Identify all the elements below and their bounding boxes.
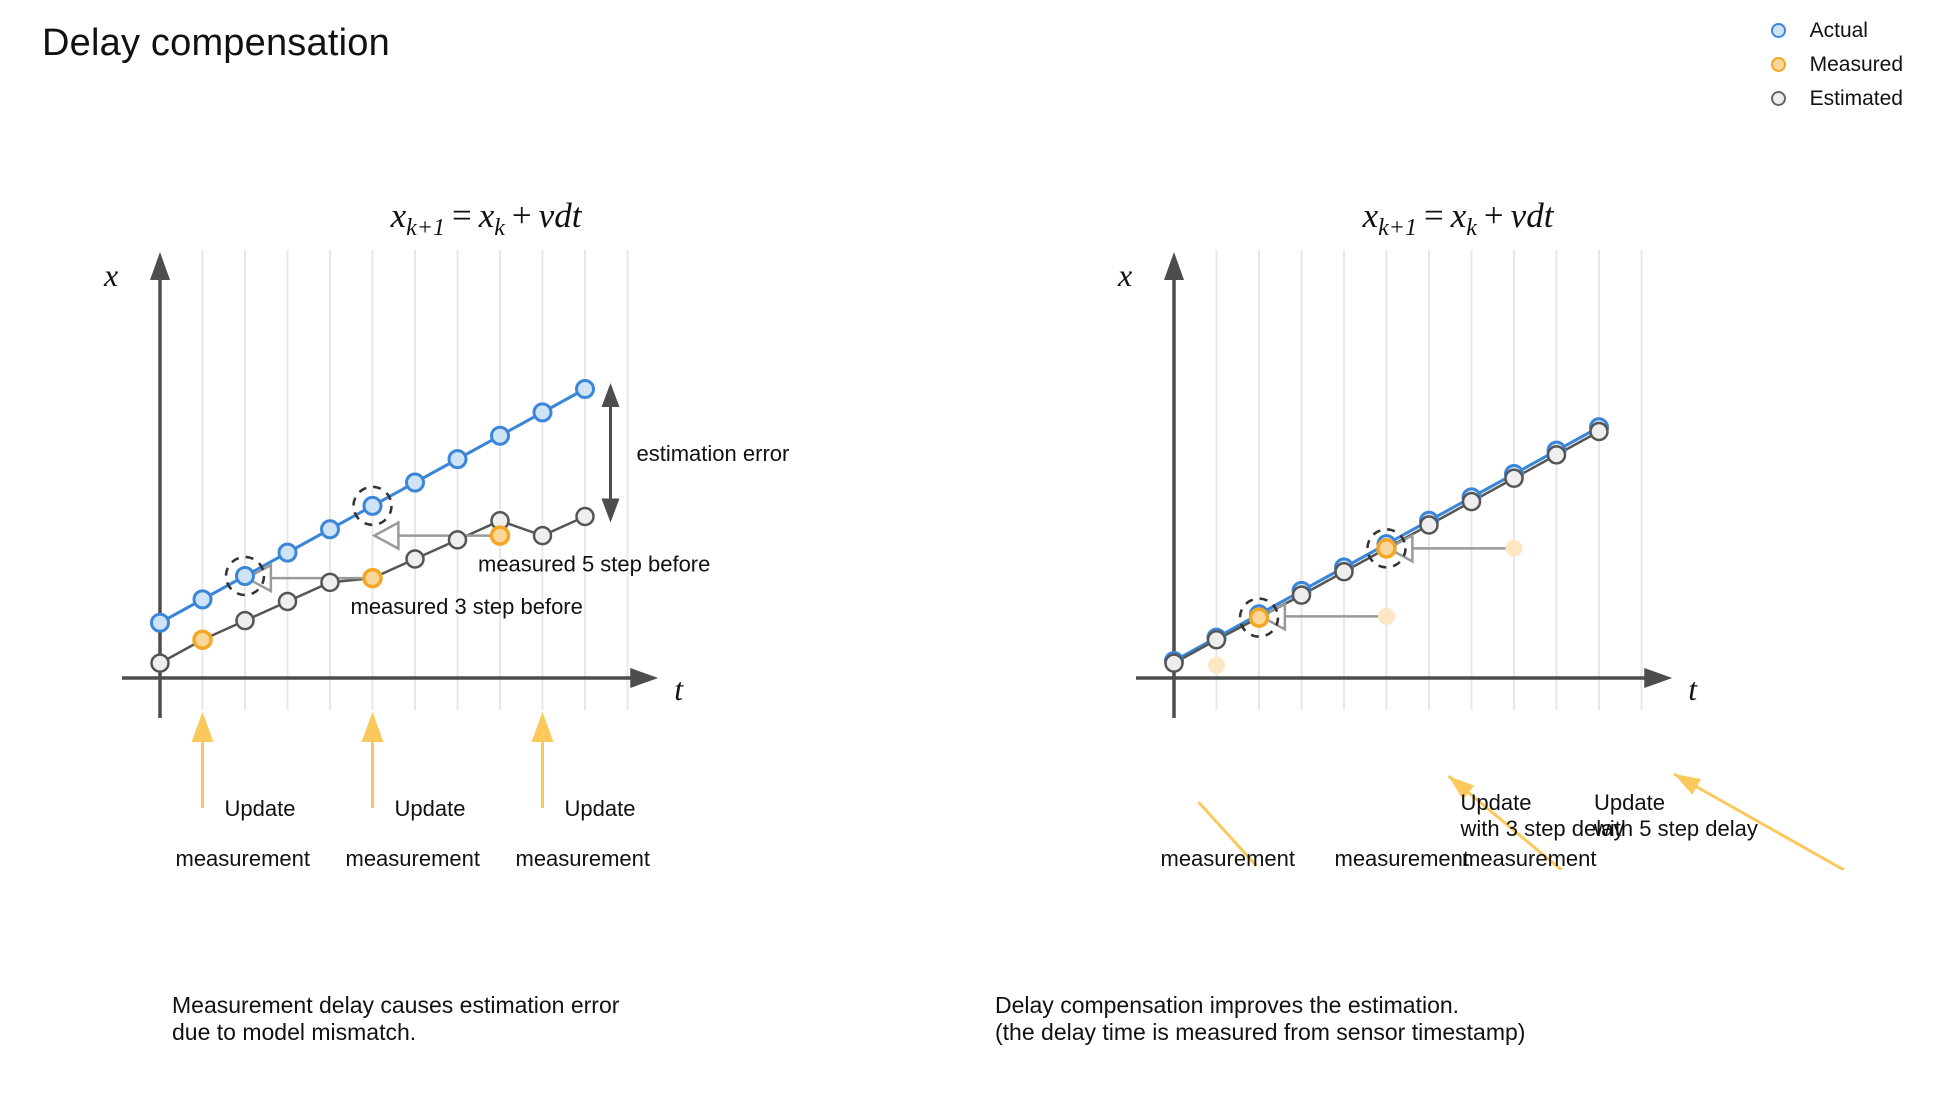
- formula-rhs-base: x: [1451, 196, 1467, 235]
- right-chart: xtUpdatewith 3 step delayUpdatewith 5 st…: [972, 250, 1944, 870]
- data-point-actual: [194, 591, 211, 608]
- y-axis-label: x: [1117, 257, 1132, 293]
- formula-lhs-base: x: [1363, 196, 1379, 235]
- data-point-measured--received--faded-: [1378, 608, 1395, 625]
- data-point-measured--compensated-: [1378, 540, 1395, 557]
- formula-term: vdt: [1511, 196, 1554, 235]
- data-point-actual: [577, 381, 594, 398]
- axes: xt: [1117, 252, 1698, 718]
- update-label: Update: [565, 796, 636, 821]
- update-label: Updatewith 5 step delay: [1593, 790, 1758, 841]
- formula-lhs-base: x: [391, 196, 407, 235]
- formula-lhs-sub: k+1: [1378, 215, 1417, 241]
- axes: xt: [103, 252, 684, 718]
- data-point-estimated: [407, 551, 424, 568]
- formula-term: vdt: [539, 196, 582, 235]
- estimation-error-label: estimation error: [637, 441, 790, 466]
- data-point-estimated: [1506, 470, 1523, 487]
- data-point-estimated: [534, 527, 551, 544]
- data-point-estimated: [1591, 423, 1608, 440]
- measurement-received-label: measurementreceived: [516, 846, 651, 870]
- delay-arrow: [1388, 535, 1514, 561]
- update-arrow[interactable]: [532, 712, 554, 808]
- y-axis-arrowhead: [150, 252, 170, 280]
- data-point-estimated: [322, 574, 339, 591]
- estimation-error-bar: [602, 383, 620, 523]
- measurement-received-label: measurementreceived: [1161, 846, 1296, 870]
- update-arrow[interactable]: [362, 712, 384, 808]
- data-point-estimated: [237, 612, 254, 629]
- update-arrow-head: [532, 712, 554, 742]
- delay-arrow-label: measured 3 step before: [351, 594, 583, 619]
- update-arrow-head: [362, 712, 384, 742]
- caption-left: Measurement delay causes estimation erro…: [172, 992, 619, 1046]
- formula-rhs-base: x: [479, 196, 495, 235]
- x-axis-arrowhead: [630, 668, 658, 688]
- delay-arrow: [247, 565, 373, 591]
- data-point-estimated: [1336, 563, 1353, 580]
- delay-arrow-label: measured 5 step before: [478, 552, 710, 577]
- data-point-measured: [194, 631, 211, 648]
- measurement-received-label: measurementreceived: [1462, 846, 1597, 870]
- formula-rhs-sub: k: [494, 215, 505, 241]
- measurement-received-label: measurementreceived: [176, 846, 311, 870]
- formula-right: xk+1=xk+vdt: [972, 196, 1944, 242]
- measurement-received-label: measurementreceived: [346, 846, 481, 870]
- update-arrow[interactable]: [192, 712, 214, 808]
- panel-left: xk+1=xk+vdt xtmeasured 3 step beforemeas…: [0, 0, 972, 1118]
- data-point-measured: [492, 527, 509, 544]
- panel-right: xk+1=xk+vdt xtUpdatewith 3 step delayUpd…: [972, 0, 1944, 1118]
- data-point-actual: [407, 474, 424, 491]
- data-point-estimated: [279, 593, 296, 610]
- data-point-actual: [449, 451, 466, 468]
- error-bar-arrow-up: [602, 383, 620, 407]
- formula-eq: =: [445, 196, 479, 235]
- update-label: Update: [395, 796, 466, 821]
- y-axis-label: x: [103, 257, 118, 293]
- formula-eq: =: [1417, 196, 1451, 235]
- x-axis-arrowhead: [1644, 668, 1672, 688]
- data-point-measured--received--faded-: [1208, 657, 1225, 674]
- data-point-estimated: [1208, 631, 1225, 648]
- formula-left: xk+1=xk+vdt: [0, 196, 972, 242]
- data-point-measured: [364, 570, 381, 587]
- formula-plus: +: [505, 196, 539, 235]
- data-point-actual: [364, 497, 381, 514]
- y-axis-arrowhead: [1164, 252, 1184, 280]
- error-bar-arrow-down: [602, 499, 620, 523]
- data-point-actual: [534, 404, 551, 421]
- data-point-actual: [492, 427, 509, 444]
- delay-arrow: [1261, 603, 1387, 629]
- data-point-actual: [237, 568, 254, 585]
- x-axis-label: t: [674, 671, 684, 707]
- data-point-actual: [322, 521, 339, 538]
- gridlines: [1217, 250, 1642, 710]
- delay-arrow-head: [374, 523, 398, 549]
- data-point-estimated: [577, 508, 594, 525]
- measurement-received-label: measurementreceived: [1335, 846, 1470, 870]
- update-label: Update: [225, 796, 296, 821]
- data-point-estimated: [152, 655, 169, 672]
- data-point-measured--received--faded-: [1506, 540, 1523, 557]
- data-point-actual: [279, 544, 296, 561]
- caption-right: Delay compensation improves the estimati…: [995, 992, 1525, 1046]
- delay-arrow: [374, 523, 500, 549]
- formula-rhs-sub: k: [1466, 215, 1477, 241]
- update-arrow-head: [192, 712, 214, 742]
- data-point-estimated: [449, 531, 466, 548]
- left-chart: xtmeasured 3 step beforemeasured 5 step …: [0, 250, 972, 870]
- formula-lhs-sub: k+1: [406, 215, 445, 241]
- data-point-estimated: [1463, 493, 1480, 510]
- data-point-estimated: [1166, 655, 1183, 672]
- data-point-actual: [152, 614, 169, 631]
- data-point-estimated: [1293, 587, 1310, 604]
- data-point-estimated: [1421, 517, 1438, 534]
- data-point-estimated: [1548, 446, 1565, 463]
- x-axis-label: t: [1688, 671, 1698, 707]
- update-arrow-head: [1674, 774, 1701, 795]
- formula-plus: +: [1477, 196, 1511, 235]
- data-point-measured--compensated-: [1251, 609, 1268, 626]
